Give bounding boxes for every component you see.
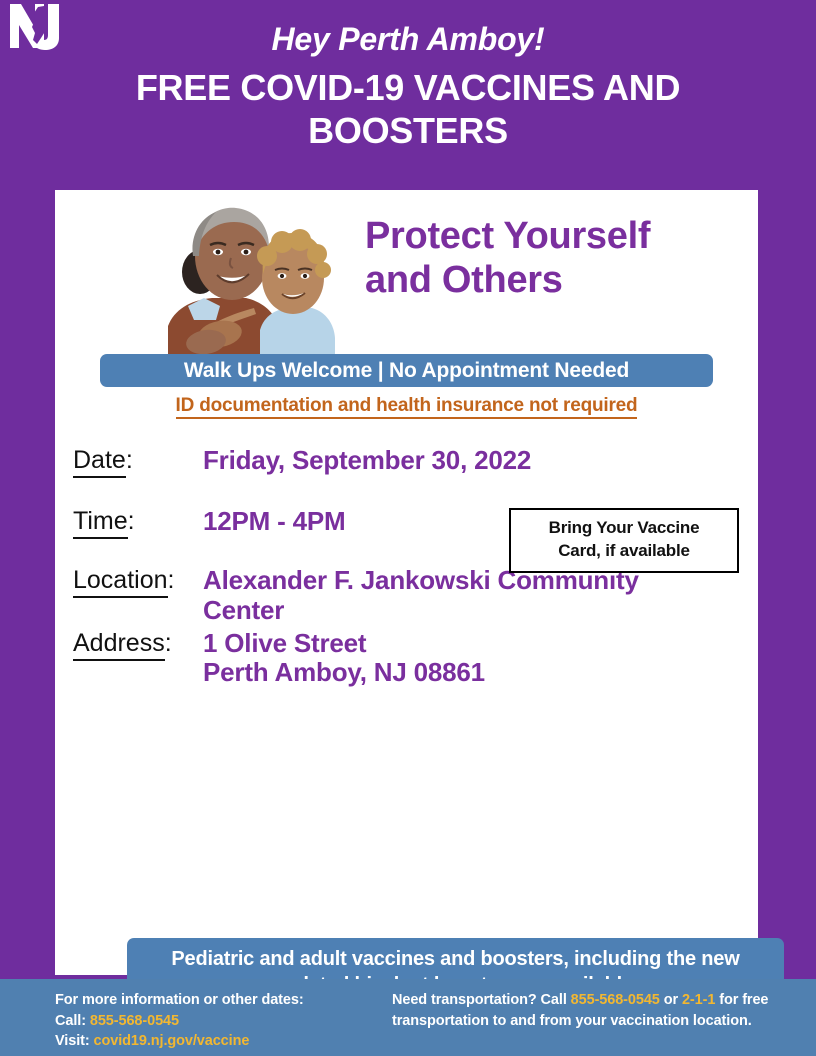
id-requirement-note: ID documentation and health insurance no… <box>55 395 758 417</box>
detail-label-date: Date: <box>73 446 203 475</box>
bring-vaccine-card-box: Bring Your Vaccine Card, if available <box>509 508 739 573</box>
detail-label-address: Address: <box>73 629 203 658</box>
detail-value-date: Friday, September 30, 2022 <box>203 446 531 476</box>
hero-headline: Protect Yourself and Others <box>365 214 745 302</box>
footer-phone-link[interactable]: 855-568-0545 <box>90 1013 179 1029</box>
address-line2: Perth Amboy, NJ 08861 <box>203 658 485 688</box>
detail-value-address: 1 Olive Street Perth Amboy, NJ 08861 <box>203 629 485 689</box>
detail-value-time: 12PM - 4PM <box>203 507 346 537</box>
detail-row-address: Address: 1 Olive Street Perth Amboy, NJ … <box>73 629 758 689</box>
footer-transportation-column: Need transportation? Call 855-568-0545 o… <box>392 990 772 1031</box>
footer-info-line: For more information or other dates: <box>55 990 385 1011</box>
footer-call-line: Call: 855-568-0545 <box>55 1011 385 1032</box>
poster-header: Hey Perth Amboy! FREE COVID-19 VACCINES … <box>0 0 816 188</box>
footer-info-column: For more information or other dates: Cal… <box>55 990 385 1052</box>
card-box-line2: Card, if available <box>515 540 733 563</box>
detail-label-location: Location: <box>73 566 203 595</box>
transportation-211-link[interactable]: 2-1-1 <box>682 992 715 1008</box>
card-box-line1: Bring Your Vaccine <box>515 517 733 540</box>
header-kicker: Hey Perth Amboy! <box>0 22 816 57</box>
detail-label-time: Time: <box>73 507 203 536</box>
detail-row-date: Date: Friday, September 30, 2022 <box>73 446 758 476</box>
flyer-poster: Hey Perth Amboy! FREE COVID-19 VACCINES … <box>0 0 816 1056</box>
page-title: FREE COVID-19 VACCINES AND BOOSTERS <box>0 67 816 152</box>
content-panel: Protect Yourself and Others Walk Ups Wel… <box>55 190 758 975</box>
poster-footer: For more information or other dates: Cal… <box>0 979 816 1056</box>
hero-section: Protect Yourself and Others <box>55 190 758 360</box>
family-photo <box>160 194 340 360</box>
hero-headline-line2: and Others <box>365 258 745 302</box>
transportation-text-2: or <box>660 992 682 1008</box>
address-line1: 1 Olive Street <box>203 629 485 659</box>
id-requirement-note-text: ID documentation and health insurance no… <box>176 395 638 419</box>
footer-visit-line: Visit: covid19.nj.gov/vaccine <box>55 1031 385 1052</box>
transportation-text-1: Need transportation? Call <box>392 992 571 1008</box>
hero-headline-line1: Protect Yourself <box>365 214 745 258</box>
footer-website-link[interactable]: covid19.nj.gov/vaccine <box>94 1033 250 1049</box>
walk-ups-banner: Walk Ups Welcome | No Appointment Needed <box>100 354 713 387</box>
detail-value-location: Alexander F. Jankowski Community Center <box>203 566 723 626</box>
detail-row-location: Location: Alexander F. Jankowski Communi… <box>73 566 758 626</box>
transportation-phone-link[interactable]: 855-568-0545 <box>571 992 660 1008</box>
